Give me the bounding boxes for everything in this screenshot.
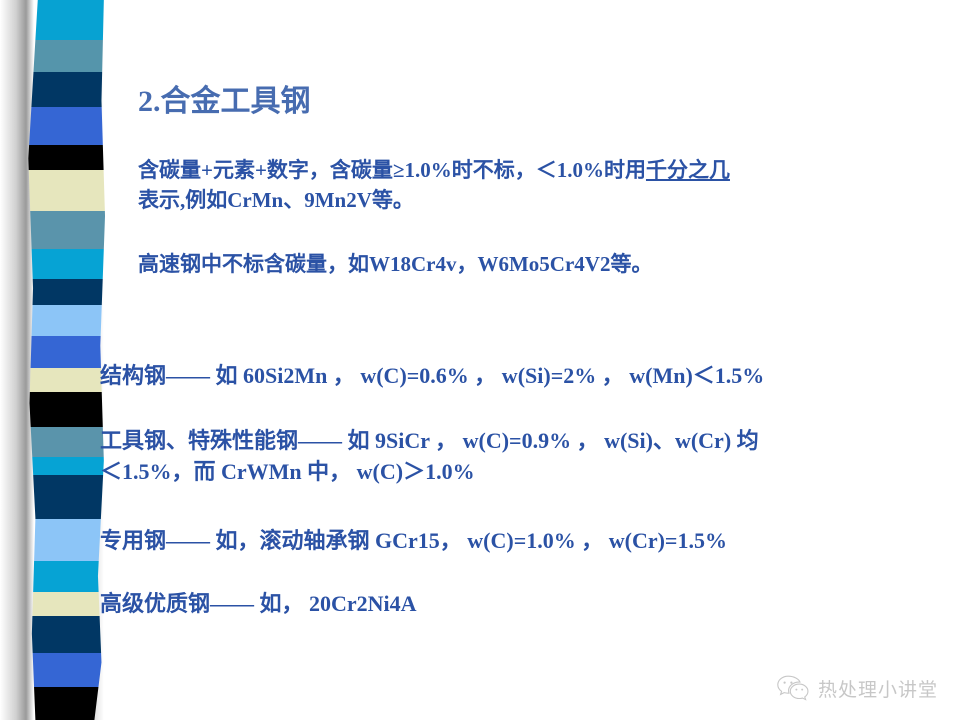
category-line-1: 高级优质钢—— 如， 20Cr2Ni4A <box>100 591 417 616</box>
slide-content: 2.合金工具钢 含碳量+元素+数字，含碳量≥1.0%时不标，＜1.0%时用千分之… <box>0 0 960 720</box>
slide-canvas: 2.合金工具钢 含碳量+元素+数字，含碳量≥1.0%时不标，＜1.0%时用千分之… <box>0 0 960 720</box>
category-line-1: 结构钢—— 如 60Si2Mn ， w(C)=0.6% ， w(Si)=2% ，… <box>100 363 764 388</box>
category-high-grade-quality-steel: 高级优质钢—— 如， 20Cr2Ni4A <box>100 588 945 619</box>
category-line-1: 专用钢—— 如，滚动轴承钢 GCr15， w(C)=1.0% ， w(Cr)=1… <box>100 528 727 553</box>
watermark-label: 热处理小讲堂 <box>818 675 938 702</box>
paragraph-high-speed-steel-rule: 高速钢中不标含碳量，如W18Cr4v，W6Mo5Cr4V2等。 <box>138 250 928 280</box>
watermark: 热处理小讲堂 <box>776 674 938 702</box>
paragraph-line-1: 高速钢中不标含碳量，如W18Cr4v，W6Mo5Cr4V2等。 <box>138 252 652 276</box>
paragraph-line-2: 表示,例如CrMn、9Mn2V等。 <box>138 188 414 212</box>
category-structural-steel: 结构钢—— 如 60Si2Mn ， w(C)=0.6% ， w(Si)=2% ，… <box>100 360 945 391</box>
paragraph-alloy-tool-steel-rule: 含碳量+元素+数字，含碳量≥1.0%时不标，＜1.0%时用千分之几 表示,例如C… <box>138 156 928 216</box>
paragraph-line-1a: 含碳量+元素+数字，含碳量≥1.0%时不标，＜1.0%时用 <box>138 158 646 182</box>
category-line-1: 工具钢、特殊性能钢—— 如 9SiCr ， w(C)=0.9% ， w(Si)、… <box>100 428 759 453</box>
wechat-icon <box>776 674 810 702</box>
page-title: 2.合金工具钢 <box>138 76 311 120</box>
category-line-2: ＜1.5%，而 CrWMn 中， w(C)＞1.0% <box>100 459 475 484</box>
paragraph-line-1-underlined: 千分之几 <box>646 158 730 182</box>
category-tool-and-special-steel: 工具钢、特殊性能钢—— 如 9SiCr ， w(C)=0.9% ， w(Si)、… <box>100 425 945 487</box>
category-special-purpose-steel: 专用钢—— 如，滚动轴承钢 GCr15， w(C)=1.0% ， w(Cr)=1… <box>100 525 945 556</box>
